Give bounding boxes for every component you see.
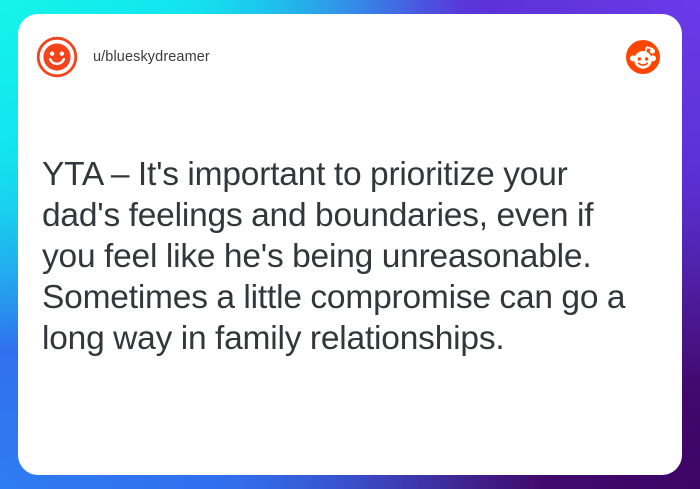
reddit-post-card: u/blueskydreamer YTA – It's important to… [18,14,682,475]
screenshot-stage: u/blueskydreamer YTA – It's important to… [0,0,700,489]
username-label: u/blueskydreamer [93,49,210,65]
reddit-snoo-logo-icon[interactable] [626,40,660,74]
avatar[interactable] [36,36,78,78]
post-header: u/blueskydreamer [18,14,682,100]
post-body-text: YTA – It's important to prioritize your … [42,154,654,359]
